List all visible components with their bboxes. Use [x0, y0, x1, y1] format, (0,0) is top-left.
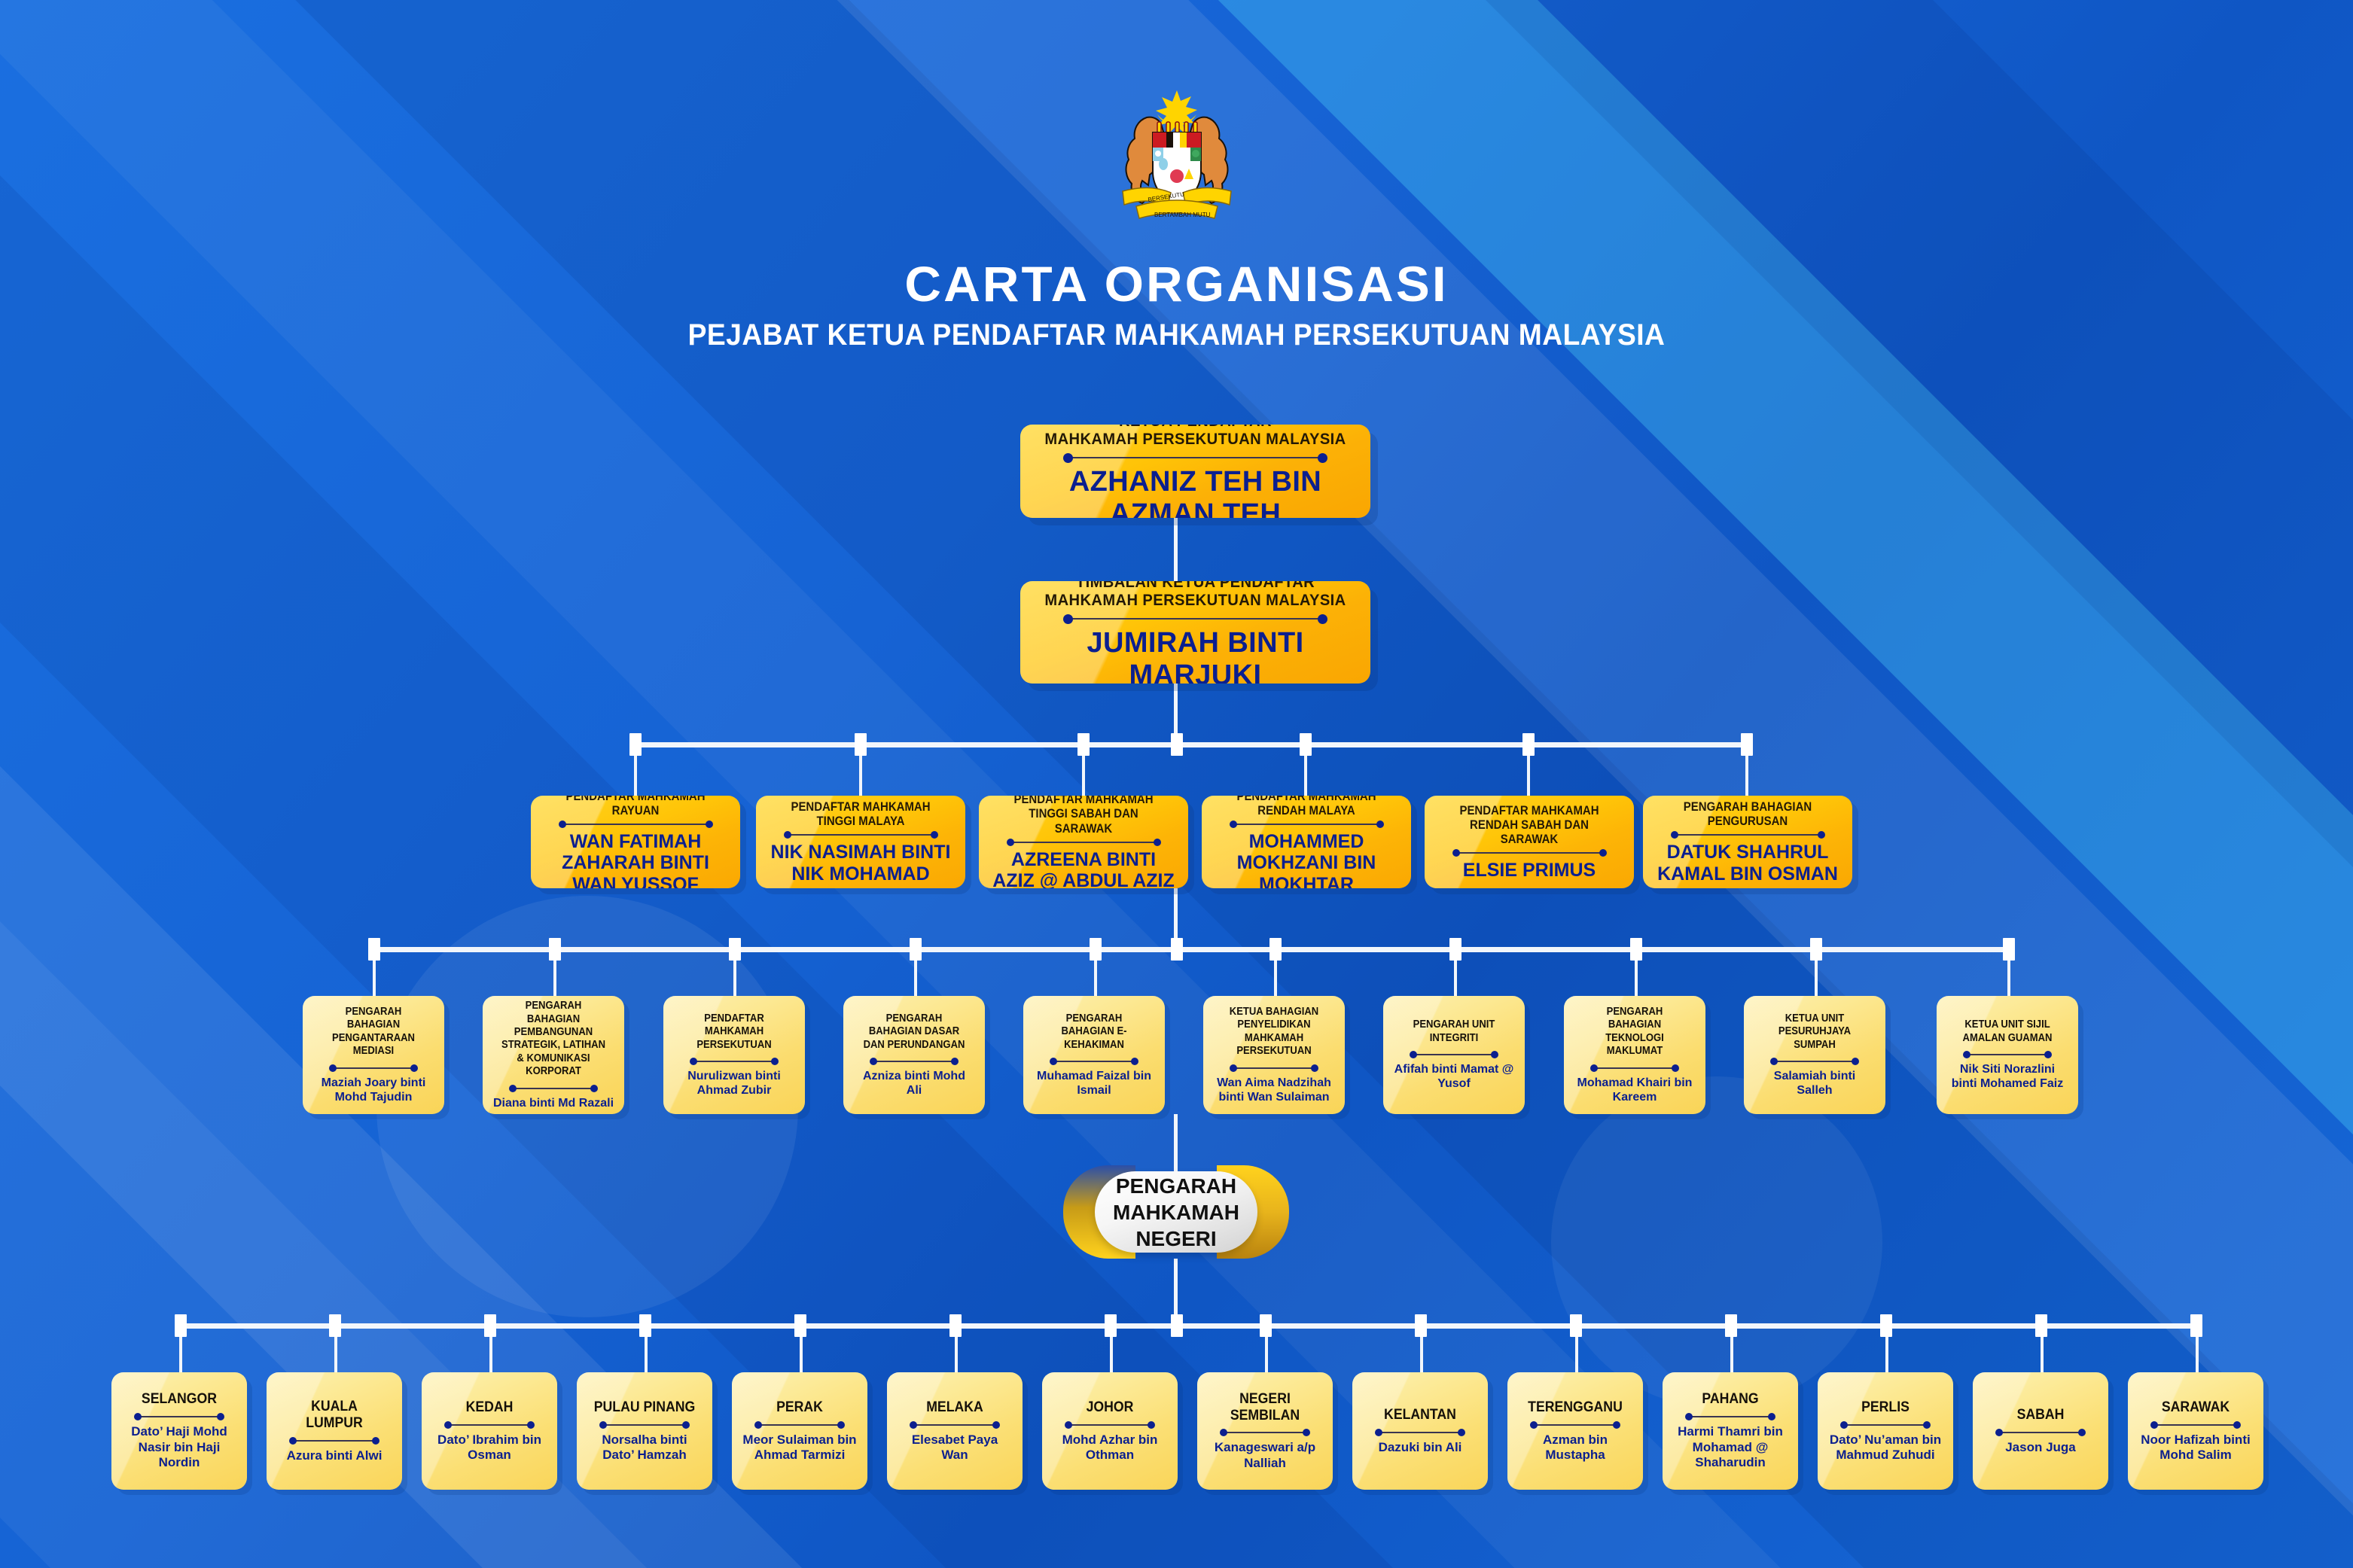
person-name: Afifah binti Mamat @ Yusof: [1394, 1062, 1514, 1091]
connector-node: [855, 733, 867, 756]
divider: [788, 834, 934, 836]
connector-node: [175, 1314, 187, 1337]
role-title: KETUA UNIT PESURUHJAYA SUMPAH: [1760, 1012, 1869, 1052]
connector-node: [1171, 733, 1183, 756]
person-name: JUMIRAH BINTI MARJUKI: [1031, 627, 1360, 684]
state-name: PAHANG: [1677, 1391, 1783, 1408]
page-header: BERSEKUTU BERTAMBAH MUTU CARTA ORGANISAS…: [0, 0, 2353, 352]
role-line-2: MAHKAMAH PERSEKUTUAN MALAYSIA: [1038, 592, 1354, 610]
divider: [513, 1088, 595, 1089]
org-node-pengantaraan-mediasi[interactable]: PENGARAH BAHAGIAN PENGANTARAAN MEDIASI M…: [303, 996, 444, 1114]
page-title: CARTA ORGANISASI: [0, 255, 2353, 312]
role-title: PENDAFTAR MAHKAMAH RENDAH SABAH DAN SARA…: [1446, 803, 1612, 846]
state-name: PERLIS: [1832, 1399, 1938, 1416]
org-node-timbalan-ketua-pendaftar[interactable]: TIMBALAN KETUA PENDAFTAR MAHKAMAH PERSEK…: [1020, 581, 1370, 684]
org-node-dasar-perundangan[interactable]: PENGARAH BAHAGIAN DASAR DAN PERUNDANGAN …: [843, 996, 985, 1114]
state-name: MELAKA: [901, 1399, 1007, 1416]
org-node-pembangunan-strategik[interactable]: PENGARAH BAHAGIAN PEMBANGUNAN STRATEGIK,…: [483, 996, 624, 1114]
connector-node: [2035, 1314, 2047, 1337]
person-name: Jason Juga: [1983, 1440, 2098, 1455]
role-title: PENGARAH BAHAGIAN PENGURUSAN: [1665, 799, 1830, 828]
person-name: Elesabet Paya Wan: [898, 1433, 1012, 1463]
org-node-state-pahang[interactable]: PAHANG Harmi Thamri bin Mohamad @ Shahar…: [1663, 1372, 1798, 1490]
person-name: MOHAMMED MOKHZANI BIN MOKHTAR: [1212, 831, 1401, 888]
person-name: WAN FATIMAH ZAHARAH BINTI WAN YUSSOF: [541, 831, 730, 888]
org-node-teknologi-maklumat[interactable]: PENGARAH BAHAGIAN TEKNOLOGI MAKLUMAT Moh…: [1564, 996, 1705, 1114]
pill-line-1: PENGARAH: [1116, 1174, 1236, 1198]
divider: [2154, 1424, 2236, 1426]
org-node-state-negeri-sembilan[interactable]: NEGERI SEMBILAN Kanageswari a/p Nalliah: [1197, 1372, 1333, 1490]
role-title: PENDAFTAR MAHKAMAH TINGGI SABAH DAN SARA…: [1001, 796, 1166, 836]
org-node-state-kedah[interactable]: KEDAH Dato’ Ibrahim bin Osman: [422, 1372, 557, 1490]
role-title: PENDAFTAR MAHKAMAH RENDAH MALAYA: [1224, 796, 1389, 817]
connector-node: [329, 1314, 341, 1337]
role-title: PENGARAH BAHAGIAN DASAR DAN PERUNDANGAN: [860, 1012, 968, 1052]
connector-node: [1449, 938, 1461, 961]
connector-node: [910, 938, 922, 961]
org-node-pendaftar-mahkamah-rendah-malaya[interactable]: PENDAFTAR MAHKAMAH RENDAH MALAYA MOHAMME…: [1202, 796, 1411, 888]
org-node-state-terengganu[interactable]: TERENGGANU Azman bin Mustapha: [1507, 1372, 1643, 1490]
connector-node: [1725, 1314, 1737, 1337]
divider: [138, 1416, 220, 1417]
person-name: AZHANIZ TEH BIN AZMAN TEH: [1031, 466, 1360, 518]
connector-horizontal-tier2: [635, 742, 1746, 747]
connector-node: [794, 1314, 806, 1337]
divider: [1010, 842, 1157, 843]
connector-horizontal-tier3: [373, 947, 2015, 952]
org-node-state-melaka[interactable]: MELAKA Elesabet Paya Wan: [887, 1372, 1023, 1490]
org-node-pengarah-bahagian-pengurusan[interactable]: PENGARAH BAHAGIAN PENGURUSAN DATUK SHAHR…: [1643, 796, 1852, 888]
person-name: Meor Sulaiman bin Ahmad Tarmizi: [742, 1433, 857, 1463]
state-name: KELANTAN: [1367, 1407, 1473, 1423]
org-node-state-kuala-lumpur[interactable]: KUALA LUMPUR Azura binti Alwi: [267, 1372, 402, 1490]
person-name: AZREENA BINTI AZIZ @ ABDUL AZIZ: [989, 849, 1178, 888]
connector-node: [639, 1314, 651, 1337]
divider: [1844, 1424, 1926, 1426]
connector-node: [1171, 1314, 1183, 1337]
person-name: Nurulizwan binti Ahmad Zubir: [674, 1069, 794, 1098]
connector-node: [1880, 1314, 1892, 1337]
divider: [1053, 1061, 1135, 1062]
connector-node: [1630, 938, 1642, 961]
connector-node: [1415, 1314, 1427, 1337]
org-node-pendaftar-mahkamah-tinggi-sabah-sarawak[interactable]: PENDAFTAR MAHKAMAH TINGGI SABAH DAN SARA…: [979, 796, 1188, 888]
person-name: NIK NASIMAH BINTI NIK MOHAMAD: [767, 842, 955, 884]
state-name: JOHOR: [1056, 1399, 1163, 1416]
connector-node: [729, 938, 741, 961]
person-name: Azman bin Mustapha: [1518, 1433, 1632, 1463]
person-name: Salamiah binti Salleh: [1754, 1069, 1875, 1098]
svg-text:BERTAMBAH MUTU: BERTAMBAH MUTU: [1154, 212, 1211, 218]
role-title: PENGARAH BAHAGIAN PEMBANGUNAN STRATEGIK,…: [499, 1000, 608, 1078]
divider: [1233, 1067, 1315, 1069]
divider: [448, 1424, 530, 1426]
person-name: Wan Aima Nadzihah binti Wan Sulaiman: [1214, 1076, 1334, 1104]
divider: [1413, 1054, 1495, 1055]
divider: [603, 1424, 685, 1426]
person-name: Mohamad Khairi bin Kareem: [1574, 1076, 1695, 1104]
divider: [1967, 1054, 2049, 1055]
org-node-state-perlis[interactable]: PERLIS Dato’ Nu’aman bin Mahmud Zuhudi: [1818, 1372, 1953, 1490]
person-name: Azniza binti Mohd Ali: [854, 1069, 974, 1098]
person-name: Maziah Joary binti Mohd Tajudin: [313, 1076, 434, 1104]
org-node-state-kelantan[interactable]: KELANTAN Dazuki bin Ali: [1352, 1372, 1488, 1490]
malaysia-coat-of-arms-icon: BERSEKUTU BERTAMBAH MUTU: [1079, 81, 1275, 232]
role-title: PENDAFTAR MAHKAMAH TINGGI MALAYA: [778, 799, 943, 828]
role-title: PENDAFTAR MAHKAMAH RAYUAN: [553, 796, 718, 817]
org-node-state-sabah[interactable]: SABAH Jason Juga: [1973, 1372, 2108, 1490]
person-name: Azura binti Alwi: [277, 1448, 392, 1463]
connector-node: [949, 1314, 962, 1337]
person-name: Dato’ Nu’aman bin Mahmud Zuhudi: [1828, 1433, 1943, 1463]
org-node-unit-integriti[interactable]: PENGARAH UNIT INTEGRITI Afifah binti Mam…: [1383, 996, 1525, 1114]
role-title: PENGARAH UNIT INTEGRITI: [1400, 1018, 1508, 1045]
page-subtitle: PEJABAT KETUA PENDAFTAR MAHKAMAH PERSEKU…: [82, 318, 2270, 352]
connector-node: [1810, 938, 1822, 961]
connector-node: [1269, 938, 1282, 961]
org-node-pendaftar-mahkamah-tinggi-malaya[interactable]: PENDAFTAR MAHKAMAH TINGGI MALAYA NIK NAS…: [756, 796, 965, 888]
role-title: KETUA BAHAGIAN PENYELIDIKAN MAHKAMAH PER…: [1220, 1006, 1328, 1058]
role-title: PENGARAH BAHAGIAN PENGANTARAAN MEDIASI: [319, 1006, 428, 1058]
divider: [1675, 834, 1821, 836]
divider: [1379, 1432, 1461, 1433]
divider: [1774, 1061, 1856, 1062]
role-title: KETUA UNIT SIJIL AMALAN GUAMAN: [1953, 1018, 2062, 1045]
divider: [333, 1067, 415, 1069]
divider: [1067, 457, 1324, 458]
state-name: SABAH: [1987, 1407, 2093, 1423]
person-name: Norsalha binti Dato’ Hamzah: [587, 1433, 702, 1463]
divider: [873, 1061, 956, 1062]
person-name: Diana binti Md Razali: [493, 1096, 614, 1110]
person-name: Nik Siti Norazlini binti Mohamed Faiz: [1947, 1062, 2068, 1091]
person-name: Dato’ Haji Mohd Nasir bin Haji Nordin: [122, 1424, 236, 1470]
connector-node: [368, 938, 380, 961]
connector-node: [1105, 1314, 1117, 1337]
connector-node: [549, 938, 561, 961]
state-name: SELANGOR: [126, 1391, 232, 1408]
org-node-state-johor[interactable]: JOHOR Mohd Azhar bin Othman: [1042, 1372, 1178, 1490]
person-name: Kanageswari a/p Nalliah: [1208, 1440, 1322, 1471]
divider: [1689, 1416, 1771, 1417]
divider: [1999, 1432, 2081, 1433]
state-name: KEDAH: [436, 1399, 542, 1416]
org-node-ketua-pendaftar[interactable]: KETUA PENDAFTAR MAHKAMAH PERSEKUTUAN MAL…: [1020, 425, 1370, 518]
connector-horizontal-tier4: [180, 1323, 2196, 1329]
role-title: PENDAFTAR MAHKAMAH PERSEKUTUAN: [680, 1012, 788, 1052]
connector-node: [1260, 1314, 1272, 1337]
divider: [1067, 618, 1324, 620]
divider: [913, 1424, 995, 1426]
connector-node: [629, 733, 642, 756]
person-name: Harmi Thamri bin Mohamad @ Shaharudin: [1673, 1424, 1788, 1470]
connector-node: [1741, 733, 1753, 756]
person-name: Muhamad Faizal bin Ismail: [1034, 1069, 1154, 1098]
org-node-pengarah-mahkamah-negeri[interactable]: PENGARAH MAHKAMAH NEGERI: [1063, 1165, 1289, 1259]
person-name: Mohd Azhar bin Othman: [1053, 1433, 1167, 1463]
role-line-1: TIMBALAN KETUA PENDAFTAR: [1038, 581, 1354, 592]
divider: [1233, 824, 1380, 825]
person-name: ELSIE PRIMUS: [1435, 860, 1623, 881]
org-node-sijil-amalan-guaman[interactable]: KETUA UNIT SIJIL AMALAN GUAMAN Nik Siti …: [1937, 996, 2078, 1114]
pill-line-2: MAHKAMAH NEGERI: [1113, 1201, 1239, 1250]
person-name: Dazuki bin Ali: [1363, 1440, 1477, 1455]
role-title: PENGARAH BAHAGIAN E-KEHAKIMAN: [1040, 1012, 1148, 1052]
org-node-pesuruhjaya-sumpah[interactable]: KETUA UNIT PESURUHJAYA SUMPAH Salamiah b…: [1744, 996, 1885, 1114]
org-node-state-pulau-pinang[interactable]: PULAU PINANG Norsalha binti Dato’ Hamzah: [577, 1372, 712, 1490]
person-name: DATUK SHAHRUL KAMAL BIN OSMAN: [1654, 842, 1842, 884]
org-node-state-perak[interactable]: PERAK Meor Sulaiman bin Ahmad Tarmizi: [732, 1372, 867, 1490]
org-node-e-kehakiman[interactable]: PENGARAH BAHAGIAN E-KEHAKIMAN Muhamad Fa…: [1023, 996, 1165, 1114]
divider: [1456, 852, 1603, 854]
connector-node: [1090, 938, 1102, 961]
state-name: SARAWAK: [2142, 1399, 2248, 1416]
org-node-pendaftar-mahkamah-rendah-sabah-sarawak[interactable]: PENDAFTAR MAHKAMAH RENDAH SABAH DAN SARA…: [1425, 796, 1634, 888]
org-node-state-selangor[interactable]: SELANGOR Dato’ Haji Mohd Nasir bin Haji …: [111, 1372, 247, 1490]
divider: [1534, 1424, 1616, 1426]
connector-node: [1077, 733, 1090, 756]
role-line-2: MAHKAMAH PERSEKUTUAN MALAYSIA: [1038, 431, 1354, 449]
divider: [293, 1440, 375, 1442]
connector-node: [1171, 938, 1183, 961]
state-name: PERAK: [746, 1399, 852, 1416]
role-title: PENGARAH BAHAGIAN TEKNOLOGI MAKLUMAT: [1580, 1006, 1689, 1058]
org-node-penyelidikan-mahkamah-persekutuan[interactable]: KETUA BAHAGIAN PENYELIDIKAN MAHKAMAH PER…: [1203, 996, 1345, 1114]
connector-vertical: [1174, 518, 1178, 581]
connector-node: [2190, 1314, 2202, 1337]
state-name: KUALA LUMPUR: [281, 1399, 387, 1432]
org-node-state-sarawak[interactable]: SARAWAK Noor Hafizah binti Mohd Salim: [2128, 1372, 2263, 1490]
divider: [693, 1061, 776, 1062]
role-line-1: KETUA PENDAFTAR: [1038, 425, 1354, 431]
connector-node: [1300, 733, 1312, 756]
divider: [758, 1424, 840, 1426]
person-name: Dato’ Ibrahim bin Osman: [432, 1433, 547, 1463]
person-name: Noor Hafizah binti Mohd Salim: [2138, 1433, 2253, 1463]
state-name: PULAU PINANG: [591, 1399, 697, 1416]
state-name: NEGERI SEMBILAN: [1212, 1391, 1318, 1424]
divider: [1594, 1067, 1676, 1069]
connector-node: [2003, 938, 2015, 961]
connector-node: [1522, 733, 1535, 756]
divider: [1068, 1424, 1151, 1426]
connector-node: [484, 1314, 496, 1337]
connector-node: [1570, 1314, 1582, 1337]
state-name: TERENGGANU: [1522, 1399, 1628, 1416]
org-node-pendaftar-mahkamah-persekutuan[interactable]: PENDAFTAR MAHKAMAH PERSEKUTUAN Nurulizwa…: [663, 996, 805, 1114]
org-node-pendaftar-mahkamah-rayuan[interactable]: PENDAFTAR MAHKAMAH RAYUAN WAN FATIMAH ZA…: [531, 796, 740, 888]
divider: [562, 824, 709, 825]
divider: [1224, 1432, 1306, 1433]
